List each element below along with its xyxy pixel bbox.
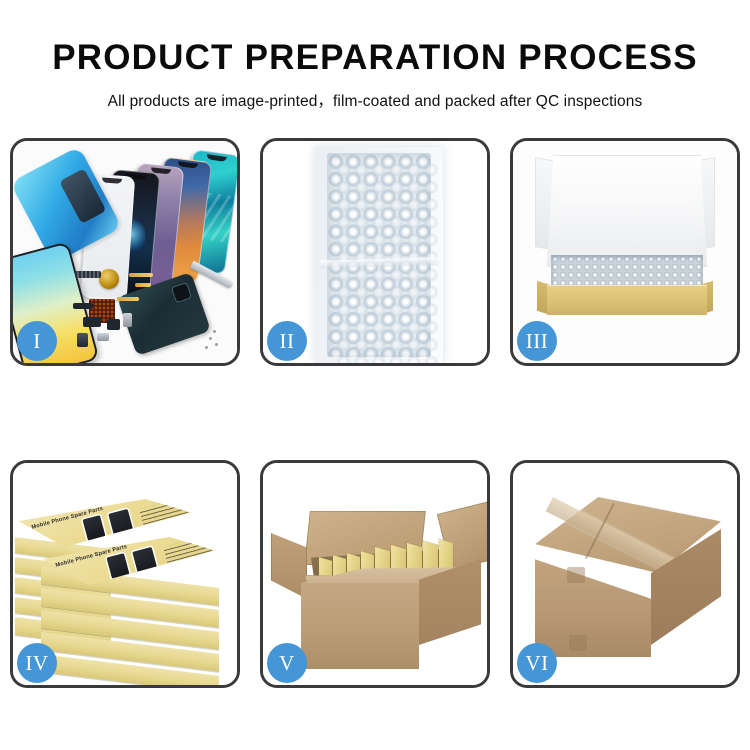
notch-icon [102,177,122,183]
page-title: PRODUCT PREPARATION PROCESS [0,0,750,78]
process-step-panel-1[interactable]: I [10,138,240,366]
flex-cable-icon [117,297,139,301]
foam-liner-icon [559,193,695,259]
carton-front-panel-icon [301,583,419,669]
box-tray-front-icon [547,285,707,315]
small-part-icon [73,303,93,309]
vibration-motor-icon [107,319,120,330]
process-step-grid: I II III [10,138,740,690]
process-step-panel-5[interactable]: V [260,460,490,688]
connector-strip-icon [75,271,101,278]
carton-tab-icon [567,567,585,583]
process-step-panel-4[interactable]: Mobile Phone Spare Parts Mobile Phone Sp… [10,460,240,688]
spec-text-lines-icon [139,497,189,528]
notch-icon [206,154,227,162]
process-step-panel-3[interactable]: III [510,138,740,366]
notch-icon [178,161,198,168]
spec-text-lines-icon [163,535,213,566]
gold-coil-icon [99,269,119,289]
step-numeral-badge: I [17,321,57,361]
metal-bracket-icon [123,313,132,327]
phone-photo-icon [132,547,158,575]
page-header: PRODUCT PREPARATION PROCESS All products… [0,0,750,111]
screw-icon [213,330,216,333]
screw-icon [205,346,208,349]
step-numeral-badge: IV [17,643,57,683]
process-step-panel-2[interactable]: II [260,138,490,366]
step-numeral-badge: V [267,643,307,683]
process-step-panel-6[interactable]: VI [510,460,740,688]
step-numeral-badge: II [267,321,307,361]
screw-icon [215,343,218,346]
small-part-icon [83,317,101,327]
phone-screen-fan-icon [99,147,237,279]
carton-tab-icon [569,635,587,651]
page-subtitle: All products are image-printed，film-coat… [0,78,750,111]
battery-connector-icon [77,333,88,347]
phone-photo-icon [82,515,105,541]
step-numeral-badge: VI [517,643,557,683]
phone-photo-icon [108,509,134,537]
step-numeral-badge: III [517,321,557,361]
screw-icon [209,337,212,340]
flex-cable-icon [135,283,151,287]
flex-cable-icon [129,273,153,277]
bubble-wrap-contents-icon [551,255,703,287]
metal-plate-icon [97,333,109,341]
phone-photo-icon [106,553,129,579]
